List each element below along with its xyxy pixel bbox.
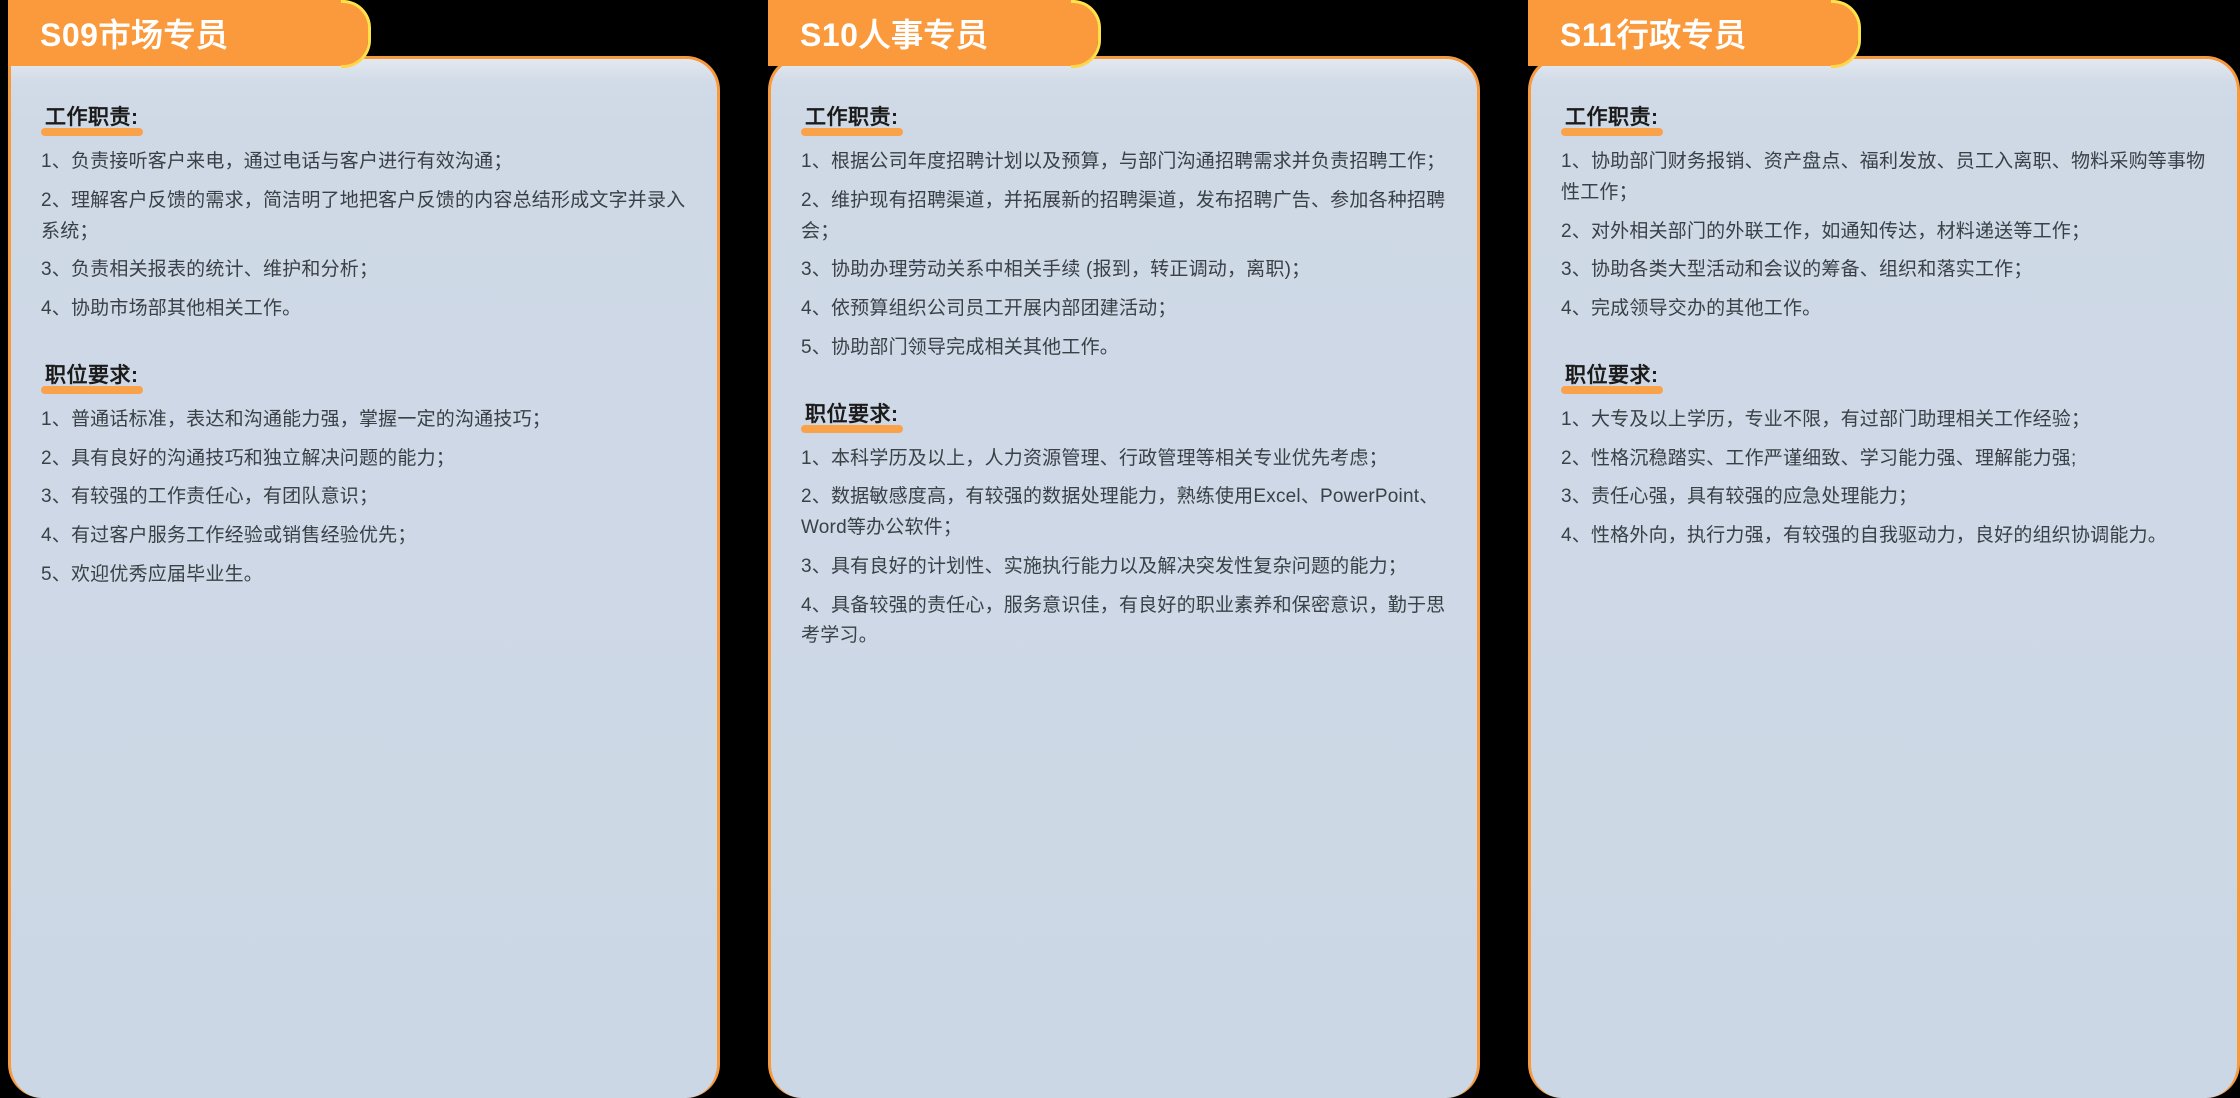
section-responsibilities-s10: 工作职责: 1、根据公司年度招聘计划以及预算，与部门沟通招聘需求并负责招聘工作；…: [801, 101, 1447, 364]
section-requirements-s10: 职位要求: 1、本科学历及以上，人力资源管理、行政管理等相关专业优先考虑； 2、…: [801, 398, 1447, 653]
requirements-list-s10: 1、本科学历及以上，人力资源管理、行政管理等相关专业优先考虑； 2、数据敏感度高…: [801, 444, 1447, 653]
list-item: 1、普通话标准，表达和沟通能力强，掌握一定的沟通技巧；: [41, 405, 687, 436]
list-item: 1、协助部门财务报销、资产盘点、福利发放、员工入离职、物料采购等事物性工作；: [1561, 147, 2207, 209]
list-item: 4、有过客户服务工作经验或销售经验优先；: [41, 521, 687, 552]
job-card-s10: S10人事专员 工作职责: 1、根据公司年度招聘计划以及预算，与部门沟通招聘需求…: [768, 0, 1480, 1098]
list-item: 1、大专及以上学历，专业不限，有过部门助理相关工作经验；: [1561, 405, 2207, 436]
list-item: 3、协助各类大型活动和会议的筹备、组织和落实工作；: [1561, 255, 2207, 286]
list-item: 2、数据敏感度高，有较强的数据处理能力，熟练使用Excel、PowerPoint…: [801, 482, 1447, 544]
section-heading-responsibilities: 工作职责:: [41, 101, 143, 133]
card-header-s09: S09市场专员: [8, 0, 368, 66]
job-cards-board: S09市场专员 工作职责: 1、负责接听客户来电，通过电话与客户进行有效沟通； …: [0, 0, 2240, 1098]
list-item: 1、本科学历及以上，人力资源管理、行政管理等相关专业优先考虑；: [801, 444, 1447, 475]
list-item: 1、负责接听客户来电，通过电话与客户进行有效沟通；: [41, 147, 687, 178]
list-item: 4、依预算组织公司员工开展内部团建活动；: [801, 294, 1447, 325]
section-heading-responsibilities: 工作职责:: [801, 101, 903, 133]
job-card-s11: S11行政专员 工作职责: 1、协助部门财务报销、资产盘点、福利发放、员工入离职…: [1528, 0, 2240, 1098]
list-item: 3、负责相关报表的统计、维护和分析；: [41, 255, 687, 286]
requirements-list-s11: 1、大专及以上学历，专业不限，有过部门助理相关工作经验； 2、性格沉稳踏实、工作…: [1561, 405, 2207, 552]
list-item: 4、性格外向，执行力强，有较强的自我驱动力，良好的组织协调能力。: [1561, 521, 2207, 552]
section-heading-requirements: 职位要求:: [1561, 359, 1663, 391]
requirements-list-s09: 1、普通话标准，表达和沟通能力强，掌握一定的沟通技巧； 2、具有良好的沟通技巧和…: [41, 405, 687, 591]
responsibilities-list-s10: 1、根据公司年度招聘计划以及预算，与部门沟通招聘需求并负责招聘工作； 2、维护现…: [801, 147, 1447, 364]
list-item: 2、理解客户反馈的需求，简洁明了地把客户反馈的内容总结形成文字并录入系统；: [41, 186, 687, 248]
card-body-s09: 工作职责: 1、负责接听客户来电，通过电话与客户进行有效沟通； 2、理解客户反馈…: [8, 56, 720, 1098]
list-item: 4、协助市场部其他相关工作。: [41, 294, 687, 325]
section-heading-responsibilities: 工作职责:: [1561, 101, 1663, 133]
list-item: 5、欢迎优秀应届毕业生。: [41, 560, 687, 591]
list-item: 4、完成领导交办的其他工作。: [1561, 294, 2207, 325]
section-heading-requirements: 职位要求:: [41, 359, 143, 391]
section-requirements-s09: 职位要求: 1、普通话标准，表达和沟通能力强，掌握一定的沟通技巧； 2、具有良好…: [41, 359, 687, 591]
list-item: 1、根据公司年度招聘计划以及预算，与部门沟通招聘需求并负责招聘工作；: [801, 147, 1447, 178]
card-title-s11: S11行政专员: [1560, 10, 1747, 56]
list-item: 2、对外相关部门的外联工作，如通知传达，材料递送等工作；: [1561, 217, 2207, 248]
list-item: 3、责任心强，具有较强的应急处理能力；: [1561, 482, 2207, 513]
list-item: 2、具有良好的沟通技巧和独立解决问题的能力；: [41, 444, 687, 475]
responsibilities-list-s11: 1、协助部门财务报销、资产盘点、福利发放、员工入离职、物料采购等事物性工作； 2…: [1561, 147, 2207, 325]
card-body-s10: 工作职责: 1、根据公司年度招聘计划以及预算，与部门沟通招聘需求并负责招聘工作；…: [768, 56, 1480, 1098]
card-title-s09: S09市场专员: [40, 10, 228, 56]
card-header-s10: S10人事专员: [768, 0, 1098, 66]
section-responsibilities-s09: 工作职责: 1、负责接听客户来电，通过电话与客户进行有效沟通； 2、理解客户反馈…: [41, 101, 687, 325]
list-item: 5、协助部门领导完成相关其他工作。: [801, 333, 1447, 364]
section-heading-requirements: 职位要求:: [801, 398, 903, 430]
card-body-s11: 工作职责: 1、协助部门财务报销、资产盘点、福利发放、员工入离职、物料采购等事物…: [1528, 56, 2240, 1098]
list-item: 2、性格沉稳踏实、工作严谨细致、学习能力强、理解能力强;: [1561, 444, 2207, 475]
card-header-s11: S11行政专员: [1528, 0, 1858, 66]
card-title-s10: S10人事专员: [800, 10, 988, 56]
list-item: 2、维护现有招聘渠道，并拓展新的招聘渠道，发布招聘广告、参加各种招聘会；: [801, 186, 1447, 248]
job-card-s09: S09市场专员 工作职责: 1、负责接听客户来电，通过电话与客户进行有效沟通； …: [8, 0, 720, 1098]
responsibilities-list-s09: 1、负责接听客户来电，通过电话与客户进行有效沟通； 2、理解客户反馈的需求，简洁…: [41, 147, 687, 325]
section-requirements-s11: 职位要求: 1、大专及以上学历，专业不限，有过部门助理相关工作经验； 2、性格沉…: [1561, 359, 2207, 552]
list-item: 4、具备较强的责任心，服务意识佳，有良好的职业素养和保密意识，勤于思考学习。: [801, 591, 1447, 653]
list-item: 3、具有良好的计划性、实施执行能力以及解决突发性复杂问题的能力；: [801, 552, 1447, 583]
list-item: 3、有较强的工作责任心，有团队意识；: [41, 482, 687, 513]
list-item: 3、协助办理劳动关系中相关手续 (报到，转正调动，离职)；: [801, 255, 1447, 286]
section-responsibilities-s11: 工作职责: 1、协助部门财务报销、资产盘点、福利发放、员工入离职、物料采购等事物…: [1561, 101, 2207, 325]
